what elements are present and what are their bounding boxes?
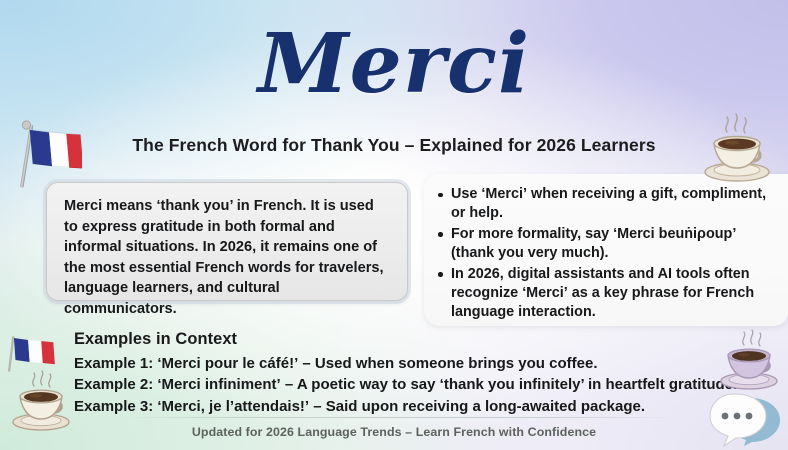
coffee-cup-icon <box>694 110 778 186</box>
examples-heading: Examples in Context <box>74 330 754 349</box>
bullet-emphasis: ‘Merci’ <box>481 186 527 202</box>
dot-icon <box>746 413 753 420</box>
example-description: – Said upon receiving a long-awaited pac… <box>309 398 645 415</box>
bullet-text-before: Use <box>451 186 481 202</box>
bullet-text-after: (thank you very much). <box>451 245 609 261</box>
page-subtitle: The French Word for Thank You – Explaine… <box>0 135 788 156</box>
page-title: Merci <box>0 18 788 110</box>
bullet-emphasis: ‘Merci beuṅiρoup’ <box>613 226 736 242</box>
french-flag-icon <box>8 112 82 190</box>
example-label: Example 3: ‘Merci, je l’attendais!’ <box>74 398 309 415</box>
dot-icon <box>734 413 741 420</box>
list-item: For more formality, say ‘Merci beuṅiρoup… <box>434 225 772 264</box>
example-row: Example 2: ‘Merci infiniment’ – A poetic… <box>74 374 754 395</box>
coffee-cup-icon <box>714 328 784 394</box>
speech-bubble-icon <box>704 390 784 448</box>
example-description: – Used when someone brings you coffee. <box>298 355 597 372</box>
list-item: In 2026, digital assistants and AI tools… <box>434 265 772 323</box>
example-row: Example 1: ‘Merci pour le cáfé!’ – Used … <box>74 353 754 374</box>
example-label: Example 2: ‘Merci infiniment’ <box>74 376 281 393</box>
dot-icon <box>722 413 729 420</box>
coffee-cup-icon <box>6 368 76 434</box>
infographic-canvas: Merci The French Word for Thank You – Ex… <box>0 0 788 450</box>
example-description: – A poetic way to say ‘thank you infinit… <box>281 376 737 393</box>
footer-text: Updated for 2026 Language Trends – Learn… <box>0 425 788 439</box>
definition-text: Merci means ‘thank you’ in French. It is… <box>64 196 391 320</box>
definition-card: Merci means ‘thank you’ in French. It is… <box>46 182 408 301</box>
footer-divider <box>120 417 678 418</box>
list-item: Use ‘Merci’ when receiving a gift, compl… <box>434 185 772 224</box>
bullet-emphasis: ‘Merci’ <box>522 285 568 301</box>
example-row: Example 3: ‘Merci, je l’attendais!’ – Sa… <box>74 396 754 417</box>
usage-tips-list: Use ‘Merci’ when receiving a gift, compl… <box>434 185 772 323</box>
example-label: Example 1: ‘Merci pour le cáfé!’ <box>74 355 298 372</box>
bullet-text-before: For more formality, say <box>451 226 613 242</box>
usage-tips-card: Use ‘Merci’ when receiving a gift, compl… <box>424 174 788 326</box>
examples-section: Examples in Context Example 1: ‘Merci po… <box>74 330 754 417</box>
